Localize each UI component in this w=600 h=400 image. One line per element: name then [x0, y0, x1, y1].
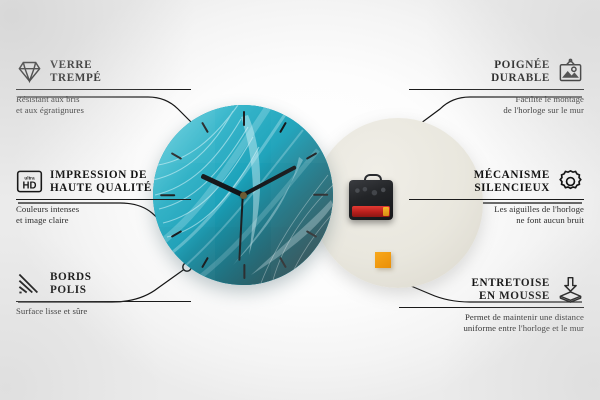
feature-title: MÉCANISME SILENCIEUX: [474, 169, 550, 195]
divider: [16, 199, 191, 200]
feature-title: IMPRESSION DE HAUTE QUALITÉ: [50, 169, 152, 195]
diamond-icon: [16, 58, 43, 85]
divider: [399, 307, 584, 308]
feature-bords-polis[interactable]: BORDS POLIS Surface lisse et sûre: [16, 270, 191, 317]
feature-header: POIGNÉE DURABLE: [409, 58, 584, 85]
feature-desc: Facilite le montage de l'horloge sur le …: [409, 94, 584, 115]
movement-body: [349, 180, 393, 220]
press-stack-icon: [557, 276, 584, 303]
divider: [409, 199, 584, 200]
feature-desc: Surface lisse et sûre: [16, 306, 191, 317]
svg-text:HD: HD: [23, 181, 37, 192]
feature-header: ultra HD IMPRESSION DE HAUTE QUALITÉ: [16, 168, 191, 195]
divider: [16, 301, 191, 302]
picture-hanger-icon: [557, 58, 584, 85]
feature-desc: Les aiguilles de l'horloge ne font aucun…: [409, 204, 584, 225]
feature-poignee-durable[interactable]: POIGNÉE DURABLE Facilite le montage de l…: [409, 58, 584, 116]
feature-desc: Permet de maintenir une distance uniform…: [399, 312, 584, 333]
feature-verre-trempe[interactable]: VERRE TREMPÉ Résistant aux bris et aux é…: [16, 58, 191, 116]
movement-detail: [354, 185, 388, 199]
feature-header: VERRE TREMPÉ: [16, 58, 191, 85]
feature-title: VERRE TREMPÉ: [50, 59, 101, 85]
ultra-hd-icon: ultra HD: [16, 168, 43, 195]
feature-title: ENTRETOISE EN MOUSSE: [471, 277, 550, 303]
feature-title: POIGNÉE DURABLE: [491, 59, 550, 85]
feature-header: MÉCANISME SILENCIEUX: [409, 168, 584, 195]
infographic-canvas: VERRE TREMPÉ Résistant aux bris et aux é…: [0, 0, 600, 400]
divider: [409, 89, 584, 90]
polished-edge-icon: [16, 270, 43, 297]
quartz-movement: [349, 180, 393, 220]
feature-desc: Couleurs intenses et image claire: [16, 204, 191, 225]
gear-icon: [557, 168, 584, 195]
feature-entretoise-en-mousse[interactable]: ENTRETOISE EN MOUSSE Permet de maintenir…: [399, 276, 584, 334]
feature-impression-haute-qualite[interactable]: ultra HD IMPRESSION DE HAUTE QUALITÉ Cou…: [16, 168, 191, 226]
divider: [16, 89, 191, 90]
feature-mecanisme-silencieux[interactable]: MÉCANISME SILENCIEUX Les aiguilles de l'…: [409, 168, 584, 226]
feature-title: BORDS POLIS: [50, 271, 92, 297]
feature-desc: Résistant aux bris et aux égratignures: [16, 94, 191, 115]
foam-spacer: [375, 252, 391, 268]
battery: [352, 206, 390, 217]
feature-header: BORDS POLIS: [16, 270, 191, 297]
feature-header: ENTRETOISE EN MOUSSE: [399, 276, 584, 303]
